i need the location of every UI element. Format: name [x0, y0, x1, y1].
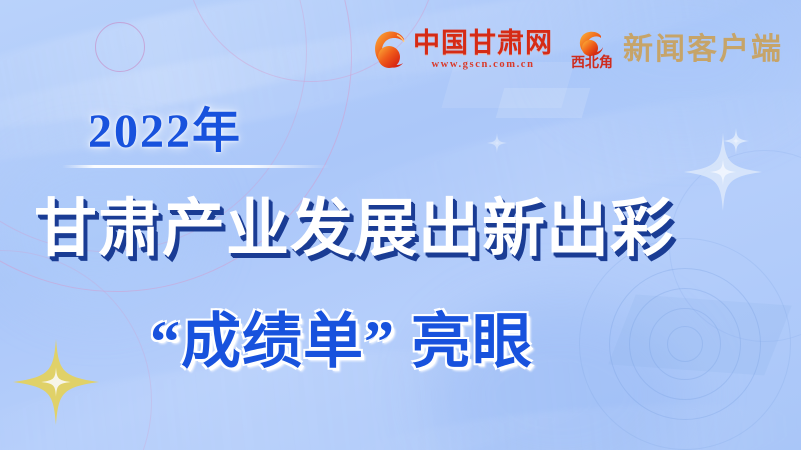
gansu-net-logo[interactable]: 中国甘肃网 www.gscn.com.cn: [373, 28, 553, 72]
subtitle-quoted-text: 成绩单: [181, 309, 364, 375]
xibeijiao-caption: 西北角: [571, 57, 613, 71]
news-app-logo[interactable]: 西北角 新闻客户端: [571, 29, 783, 71]
gansu-net-title: 中国甘肃网: [413, 29, 553, 57]
logo-bar: 中国甘肃网 www.gscn.com.cn 西北角: [373, 28, 783, 72]
subtitle-open-quote: “: [150, 309, 181, 375]
subtitle-tail-text: 亮眼: [411, 309, 533, 375]
gansu-net-url: www.gscn.com.cn: [431, 58, 534, 72]
news-app-name: 新闻客户端: [623, 35, 783, 65]
xibeijiao-flame-logo-icon: [577, 29, 607, 59]
poster-canvas: 中国甘肃网 www.gscn.com.cn 西北角: [0, 0, 801, 450]
year-underline-rule: [62, 165, 330, 168]
xibeijiao-logo: 西北角: [571, 29, 613, 71]
page-subtitle: “成绩单”亮眼: [150, 312, 533, 372]
gansu-net-text: 中国甘肃网 www.gscn.com.cn: [413, 29, 553, 72]
china-gansu-net-swirl-logo-icon: [373, 28, 407, 72]
year-label: 2022年: [88, 108, 242, 156]
page-title: 甘肃产业发展出新出彩: [34, 198, 674, 261]
subtitle-close-quote: ”: [364, 309, 395, 375]
